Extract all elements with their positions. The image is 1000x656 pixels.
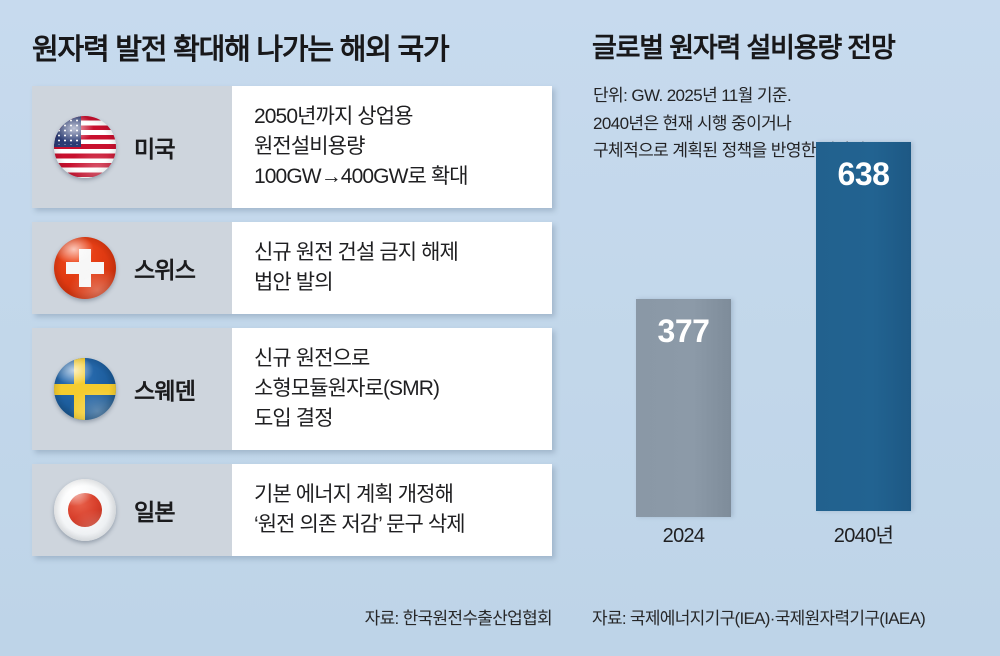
country-description-cell: 2050년까지 상업용 원전설비용량 100GW→400GW로 확대 [232, 86, 552, 208]
chart-note-line: 단위: GW. 2025년 11월 기준. [593, 82, 869, 110]
bar-group-2040: 638 2040년 [816, 142, 911, 548]
country-description-cell: 신규 원전 건설 금지 해제 법안 발의 [232, 222, 552, 314]
country-policy-list: 미국 2050년까지 상업용 원전설비용량 100GW→400GW로 확대 스위… [32, 86, 552, 570]
country-description-cell: 기본 에너지 계획 개정해 ‘원전 의존 저감’ 문구 삭제 [232, 464, 552, 556]
flag-sweden-cross-horizontal [54, 384, 116, 395]
country-name: 스위스 [134, 251, 195, 285]
flag-japan-sun [68, 493, 103, 528]
list-item: 스위스 신규 원전 건설 금지 해제 법안 발의 [32, 222, 552, 314]
flag-usa-canton [54, 116, 81, 147]
description-line: 도입 결정 [254, 404, 542, 434]
country-label-cell: 일본 [32, 464, 232, 556]
flag-usa-stars [56, 118, 79, 145]
flag-sweden-icon [54, 358, 116, 420]
bar-category-label: 2024 [663, 525, 705, 548]
bar-2024: 377 [636, 299, 731, 517]
bar-category-label: 2040년 [834, 519, 893, 548]
bar-group-2024: 377 2024 [636, 299, 731, 548]
chart-note-line: 2040년은 현재 시행 중이거나 [593, 110, 869, 138]
left-panel: 원자력 발전 확대해 나가는 해외 국가 미국 2050년까지 상업용 원전설비… [0, 0, 578, 656]
list-item: 일본 기본 에너지 계획 개정해 ‘원전 의존 저감’ 문구 삭제 [32, 464, 552, 556]
description-line: 소형모듈원자로(SMR) [254, 374, 542, 404]
description-line: 2050년까지 상업용 [254, 102, 542, 132]
list-item: 미국 2050년까지 상업용 원전설비용량 100GW→400GW로 확대 [32, 86, 552, 208]
flag-switzerland-cross-horizontal [66, 262, 104, 273]
description-line: 100GW→400GW로 확대 [254, 162, 542, 192]
left-page-title: 원자력 발전 확대해 나가는 해외 국가 [32, 26, 449, 68]
country-label-cell: 스웨덴 [32, 328, 232, 450]
flag-usa-icon [54, 116, 116, 178]
country-description-cell: 신규 원전으로 소형모듈원자로(SMR) 도입 결정 [232, 328, 552, 450]
description-line: 기본 에너지 계획 개정해 [254, 480, 542, 510]
infographic-page: 원자력 발전 확대해 나가는 해외 국가 미국 2050년까지 상업용 원전설비… [0, 0, 1000, 656]
country-name: 미국 [134, 130, 175, 164]
country-label-cell: 스위스 [32, 222, 232, 314]
bar-value-label: 638 [816, 156, 911, 193]
right-panel: 글로벌 원자력 설비용량 전망 단위: GW. 2025년 11월 기준. 20… [578, 0, 1000, 656]
description-line: ‘원전 의존 저감’ 문구 삭제 [254, 510, 542, 540]
flag-switzerland-icon [54, 237, 116, 299]
bar-2040: 638 [816, 142, 911, 511]
description-line: 원전설비용량 [254, 132, 542, 162]
description-line: 법안 발의 [254, 268, 542, 298]
chart-title: 글로벌 원자력 설비용량 전망 [592, 26, 895, 65]
right-source-note: 자료: 국제에너지기구(IEA)·국제원자력기구(IAEA) [592, 604, 925, 629]
left-source-note: 자료: 한국원전수출산업협회 [365, 604, 552, 629]
flag-japan-icon [54, 479, 116, 541]
description-line: 신규 원전으로 [254, 344, 542, 374]
description-line: 신규 원전 건설 금지 해제 [254, 238, 542, 268]
list-item: 스웨덴 신규 원전으로 소형모듈원자로(SMR) 도입 결정 [32, 328, 552, 450]
bar-value-label: 377 [636, 313, 731, 350]
country-name: 스웨덴 [134, 372, 195, 406]
country-label-cell: 미국 [32, 86, 232, 208]
country-name: 일본 [134, 493, 175, 527]
capacity-bar-chart: 377 2024 638 2040년 [578, 180, 1000, 590]
